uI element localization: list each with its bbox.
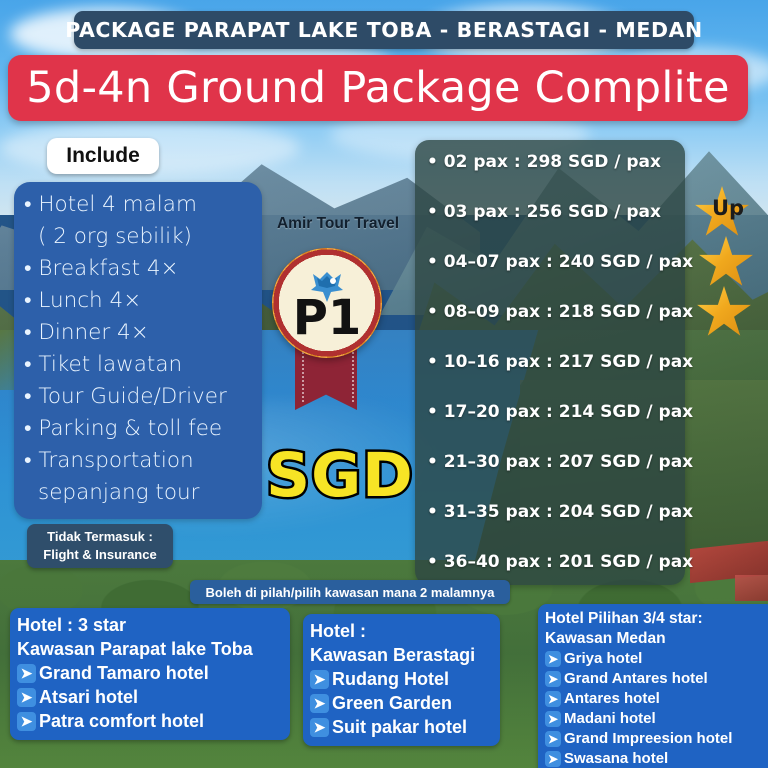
hotel-name: Rudang Hotel <box>332 667 449 691</box>
excluded-title: Tidak Termasuk : <box>35 528 165 546</box>
include-item: Tiket lawatan <box>24 349 252 381</box>
hotel-name: Green Garden <box>332 691 452 715</box>
price-panel: 02 pax : 298 SGD / pax 03 pax : 256 SGD … <box>415 140 685 585</box>
hotel-name: Griya hotel <box>564 649 642 669</box>
include-item: Parking & toll fee <box>24 413 252 445</box>
hotel-box-parapat: Hotel : 3 star Kawasan Parapat lake Toba… <box>10 608 290 740</box>
price-row: 21–30 pax : 207 SGD / pax <box>427 452 693 472</box>
excluded-detail: Flight & Insurance <box>35 546 165 564</box>
star-icon <box>696 286 752 340</box>
hotel-name: Suit pakar hotel <box>332 715 467 739</box>
hotel-box-heading: Hotel : <box>310 619 492 643</box>
hotel-list-item: ➤ Atsari hotel <box>17 685 282 709</box>
rating-stars: Up <box>692 186 758 338</box>
hotel-name: Grand Antares hotel <box>564 669 708 689</box>
choose-note: Boleh di pilah/pilih kawasan mana 2 mala… <box>190 580 510 604</box>
hotel-list-item: ➤ Grand Impreesion hotel <box>545 729 767 749</box>
hotel-box-area: Kawasan Medan <box>545 629 767 649</box>
poster-subtitle: 5d-4n Ground Package Complite <box>26 63 730 113</box>
hotel-list-item: ➤ Griya hotel <box>545 649 767 669</box>
arrow-right-icon: ➤ <box>545 711 561 727</box>
include-item: sepanjang tour <box>24 477 252 509</box>
hotel-name: Patra comfort hotel <box>39 709 204 733</box>
price-row: 17–20 pax : 214 SGD / pax <box>427 402 693 422</box>
hotel-list-item: ➤ Patra comfort hotel <box>17 709 282 733</box>
hotel-name: Grand Impreesion hotel <box>564 729 732 749</box>
arrow-right-icon: ➤ <box>17 664 36 683</box>
hotel-list-item: ➤ Grand Antares hotel <box>545 669 767 689</box>
hotel-box-medan: Hotel Pilihan 3/4 star: Kawasan Medan ➤ … <box>538 604 768 768</box>
arrow-right-icon: ➤ <box>310 670 329 689</box>
hotel-name: Atsari hotel <box>39 685 138 709</box>
include-item: Transportation <box>24 445 252 477</box>
arrow-right-icon: ➤ <box>545 671 561 687</box>
currency-label: SGD <box>245 440 435 511</box>
price-row: 10–16 pax : 217 SGD / pax <box>427 352 693 372</box>
package-seal: P1 <box>272 248 382 358</box>
seal-text: P1 <box>272 292 382 344</box>
include-item: Hotel 4 malam <box>24 189 252 221</box>
hotel-list-item: ➤ Rudang Hotel <box>310 667 492 691</box>
arrow-right-icon: ➤ <box>17 688 36 707</box>
up-label: Up <box>700 196 756 220</box>
include-item: Dinner 4× <box>24 317 252 349</box>
hotel-box-heading: Hotel Pilihan 3/4 star: <box>545 609 767 629</box>
price-row: 02 pax : 298 SGD / pax <box>427 152 661 172</box>
include-item: Lunch 4× <box>24 285 252 317</box>
price-row: 04–07 pax : 240 SGD / pax <box>427 252 693 272</box>
hotel-name: Madani hotel <box>564 709 656 729</box>
poster-title: PACKAGE PARAPAT LAKE TOBA - BERASTAGI - … <box>65 18 703 42</box>
include-item: Breakfast 4× <box>24 253 252 285</box>
arrow-right-icon: ➤ <box>310 718 329 737</box>
hotel-box-berastagi: Hotel : Kawasan Berastagi ➤ Rudang Hotel… <box>303 614 500 746</box>
promo-poster: PACKAGE PARAPAT LAKE TOBA - BERASTAGI - … <box>0 0 768 768</box>
arrow-right-icon: ➤ <box>545 731 561 747</box>
hotel-box-area: Kawasan Parapat lake Toba <box>17 637 282 661</box>
hotel-list-item: ➤ Grand Tamaro hotel <box>17 661 282 685</box>
include-list: Hotel 4 malam ( 2 org sebilik) Breakfast… <box>14 182 262 519</box>
poster-title-bar: PACKAGE PARAPAT LAKE TOBA - BERASTAGI - … <box>74 11 694 49</box>
hotel-box-area: Kawasan Berastagi <box>310 643 492 667</box>
hotel-list-item: ➤ Madani hotel <box>545 709 767 729</box>
hotel-box-heading: Hotel : 3 star <box>17 613 282 637</box>
hotel-list-item: ➤ Suit pakar hotel <box>310 715 492 739</box>
include-item: Tour Guide/Driver <box>24 381 252 413</box>
price-row: 03 pax : 256 SGD / pax <box>427 202 661 222</box>
price-row: 31–35 pax : 204 SGD / pax <box>427 502 693 522</box>
excluded-box: Tidak Termasuk : Flight & Insurance <box>27 524 173 568</box>
hotel-name: Grand Tamaro hotel <box>39 661 209 685</box>
hotel-list-item: ➤ Swasana hotel <box>545 749 767 768</box>
arrow-right-icon: ➤ <box>310 694 329 713</box>
hotel-list-item: ➤ Antares hotel <box>545 689 767 709</box>
price-row: 36–40 pax : 201 SGD / pax <box>427 552 693 572</box>
include-label-pill: Include <box>47 138 159 174</box>
hotel-name: Antares hotel <box>564 689 660 709</box>
choose-note-text: Boleh di pilah/pilih kawasan mana 2 mala… <box>206 585 495 600</box>
hotel-list-item: ➤ Green Garden <box>310 691 492 715</box>
hotel-name: Swasana hotel <box>564 749 668 768</box>
star-icon <box>698 236 754 290</box>
brand-name: Amir Tour Travel <box>258 215 418 233</box>
price-row: 08–09 pax : 218 SGD / pax <box>427 302 693 322</box>
include-item: ( 2 org sebilik) <box>24 221 252 253</box>
arrow-right-icon: ➤ <box>17 712 36 731</box>
arrow-right-icon: ➤ <box>545 751 561 767</box>
include-label: Include <box>66 144 140 168</box>
arrow-right-icon: ➤ <box>545 691 561 707</box>
arrow-right-icon: ➤ <box>545 651 561 667</box>
poster-subtitle-bar: 5d-4n Ground Package Complite <box>8 55 748 121</box>
